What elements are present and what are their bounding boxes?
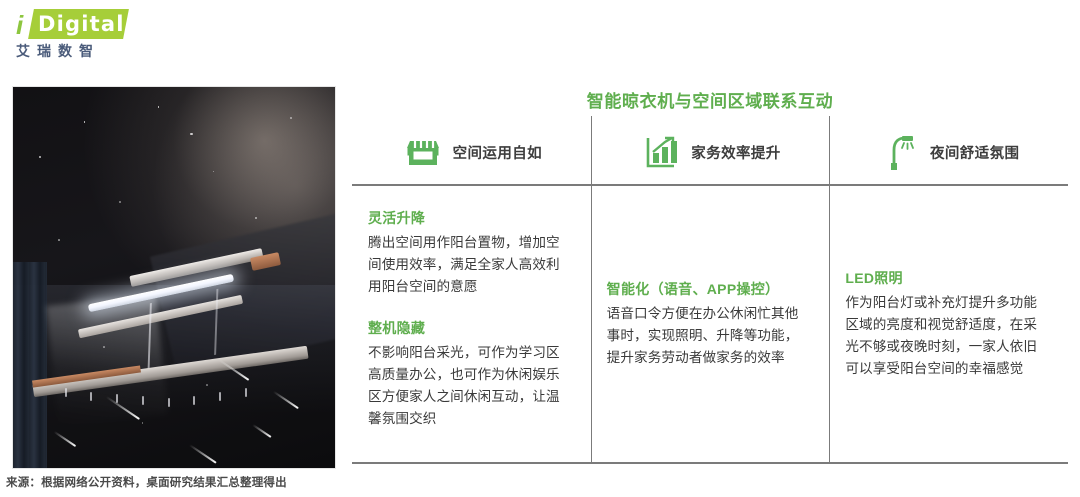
table-header-cell-3: 夜间舒适氛围 [829, 120, 1068, 184]
slide-root: i Digital 艾瑞数智 [0, 0, 1080, 497]
block-text: 腾出空间用作阳台置物，增加空间使用效率，满足全家人高效利用阳台空间的意愿 [368, 232, 573, 298]
table-cell-chore-efficiency: 智能化（语音、APP操控） 语音口令方便在办公休闲忙其他事时，实现照明、升降等功… [591, 186, 830, 462]
content-block: LED照明 作为阳台灯或补充灯提升多功能区域的亮度和视觉舒适度，在采光不够或夜晚… [845, 268, 1050, 380]
table-body-row: 灵活升降 腾出空间用作阳台置物，增加空间使用效率，满足全家人高效利用阳台空间的意… [352, 186, 1068, 464]
block-text: 作为阳台灯或补充灯提升多功能区域的亮度和视觉舒适度，在采光不够或夜晚时刻，一家人… [845, 292, 1050, 380]
bar-chart-growth-icon [639, 130, 683, 174]
block-heading: 智能化（语音、APP操控） [607, 279, 812, 299]
brand-i-mark: i [16, 10, 22, 40]
block-heading: 整机隐藏 [368, 318, 573, 338]
table-header-label: 家务效率提升 [691, 142, 780, 163]
brand-chinese-name: 艾瑞数智 [16, 41, 100, 61]
table-header-label: 空间运用自如 [453, 142, 542, 163]
block-heading: 灵活升降 [368, 208, 573, 228]
brand-logo: i Digital 艾瑞数智 [14, 8, 164, 66]
storefront-icon [401, 130, 445, 174]
brand-logo-row: i Digital [14, 8, 164, 42]
content-block: 智能化（语音、APP操控） 语音口令方便在办公休闲忙其他事时，实现照明、升降等功… [607, 279, 812, 369]
table-header-label: 夜间舒适氛围 [930, 142, 1019, 163]
table-cell-night-ambience: LED照明 作为阳台灯或补充灯提升多功能区域的亮度和视觉舒适度，在采光不够或夜晚… [829, 186, 1068, 462]
content-block: 整机隐藏 不影响阳台采光，可作为学习区高质量办公，也可作为休闲娱乐区方便家人之间… [368, 318, 573, 430]
table-header-cell-1: 空间运用自如 [352, 120, 591, 184]
source-note: 来源：根据网络公开资料，桌面研究结果汇总整理得出 [6, 474, 287, 490]
chart-title: 智能晾衣机与空间区域联系互动 [352, 87, 1068, 112]
block-heading: LED照明 [845, 268, 1050, 288]
brand-wordmark: Digital [38, 11, 125, 37]
table-header-cell-2: 家务效率提升 [591, 120, 830, 184]
block-text: 不影响阳台采光，可作为学习区高质量办公，也可作为休闲娱乐区方便家人之间休闲互动，… [368, 342, 573, 430]
product-photo [12, 86, 336, 469]
block-text: 语音口令方便在办公休闲忙其他事时，实现照明、升降等功能，提升家务劳动者做家务的效… [607, 303, 812, 369]
table-header-row: 空间运用自如 家务效率提升 [352, 120, 1068, 184]
content-block: 灵活升降 腾出空间用作阳台置物，增加空间使用效率，满足全家人高效利用阳台空间的意… [368, 208, 573, 298]
comparison-table: 空间运用自如 家务效率提升 [352, 120, 1068, 466]
street-lamp-icon [878, 130, 922, 174]
curtain [13, 262, 47, 468]
table-cell-space-usage: 灵活升降 腾出空间用作阳台置物，增加空间使用效率，满足全家人高效利用阳台空间的意… [352, 186, 591, 462]
